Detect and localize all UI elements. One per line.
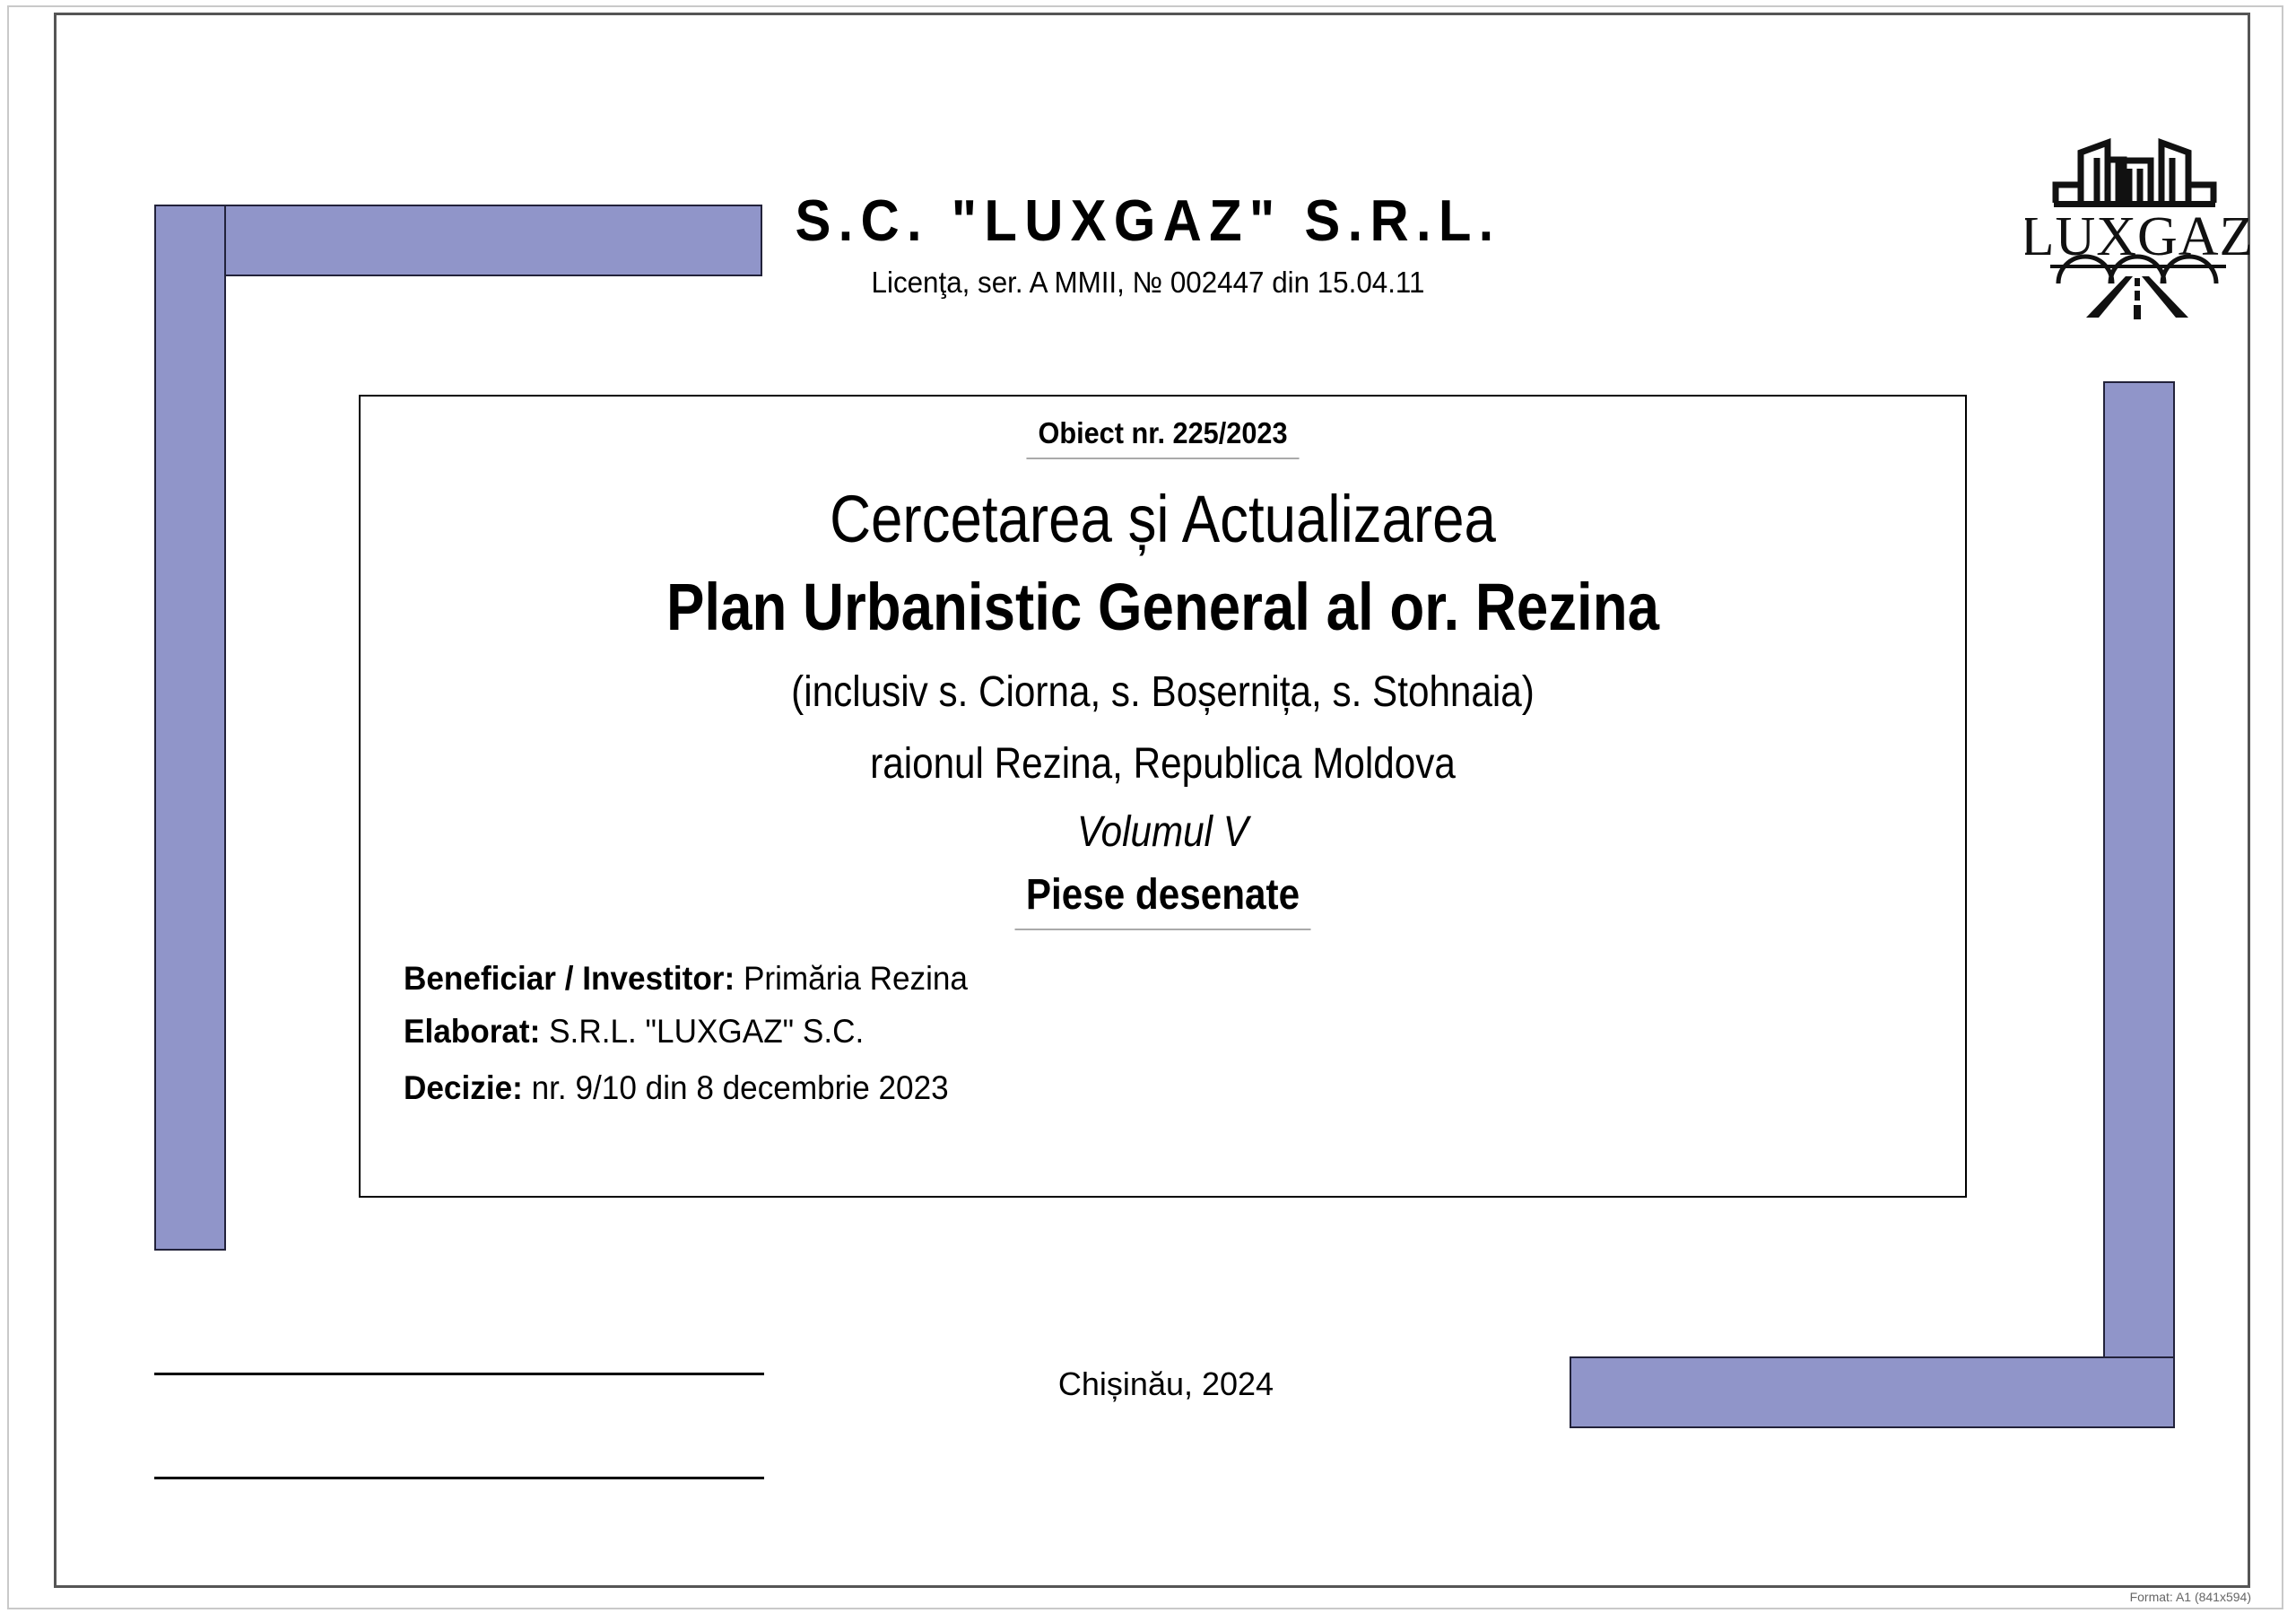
meta-value-decision: nr. 9/10 din 8 decembrie 2023 [532, 1069, 949, 1106]
luxgaz-logo: LUXGAZ [2025, 118, 2249, 334]
volume-label: Volumul V [457, 807, 1868, 857]
meta-value-beneficiary: Primăria Rezina [744, 960, 968, 997]
meta-label-decision: Decizie: [404, 1069, 523, 1106]
project-title-line-2: Plan Urbanistic General al or. Rezina [473, 569, 1853, 645]
document-header: S.C. "LUXGAZ" S.R.L. Licenţa, ser. A MMI… [628, 188, 1668, 300]
project-meta-list: Beneficiar / Investitor: Primăria Rezina… [404, 962, 1659, 1124]
signature-line-2 [154, 1477, 764, 1479]
volume-part-label: Piese desenate [1015, 870, 1311, 930]
logo-divider-rule [2050, 265, 2226, 268]
meta-label-elaborated: Elaborat: [404, 1013, 540, 1050]
project-title-line-1: Cercetarea și Actualizarea [473, 481, 1853, 557]
license-line: Licenţa, ser. A MMII, № 002447 din 15.04… [654, 266, 1642, 300]
title-block-box: Obiect nr. 225/2023 Cercetarea și Actual… [359, 395, 1967, 1198]
meta-label-beneficiary: Beneficiar / Investitor: [404, 960, 735, 997]
volume-part-row: Piese desenate [361, 870, 1965, 930]
road-icon [2086, 276, 2188, 319]
decorative-bracket-bottom-right-vertical [2103, 381, 2175, 1428]
signature-line-1 [154, 1373, 764, 1375]
object-number-row: Obiect nr. 225/2023 [361, 416, 1965, 459]
decorative-bracket-bottom-right-horizontal [1570, 1356, 2175, 1428]
title-page: S.C. "LUXGAZ" S.R.L. Licenţa, ser. A MMI… [0, 0, 2296, 1622]
meta-row-elaborated: Elaborat: S.R.L. "LUXGAZ" S.C. [404, 1015, 1596, 1048]
meta-value-elaborated: S.R.L. "LUXGAZ" S.C. [549, 1013, 864, 1050]
company-name: S.C. "LUXGAZ" S.R.L. [669, 188, 1626, 253]
decorative-bracket-top-left-vertical [154, 205, 226, 1251]
city-and-year: Chișinău, 2024 [897, 1365, 1435, 1403]
project-subtitle-villages: (inclusiv s. Ciorna, s. Boșernița, s. St… [457, 667, 1868, 717]
sheet-format-note: Format: A1 (841x594) [1955, 1590, 2251, 1604]
project-subtitle-region: raionul Rezina, Republica Moldova [457, 739, 1868, 789]
meta-row-beneficiary: Beneficiar / Investitor: Primăria Rezina [404, 962, 1596, 995]
object-number: Obiect nr. 225/2023 [1026, 416, 1299, 459]
meta-row-decision: Decizie: nr. 9/10 din 8 decembrie 2023 [404, 1071, 1596, 1104]
skyline-icon [2056, 143, 2213, 203]
